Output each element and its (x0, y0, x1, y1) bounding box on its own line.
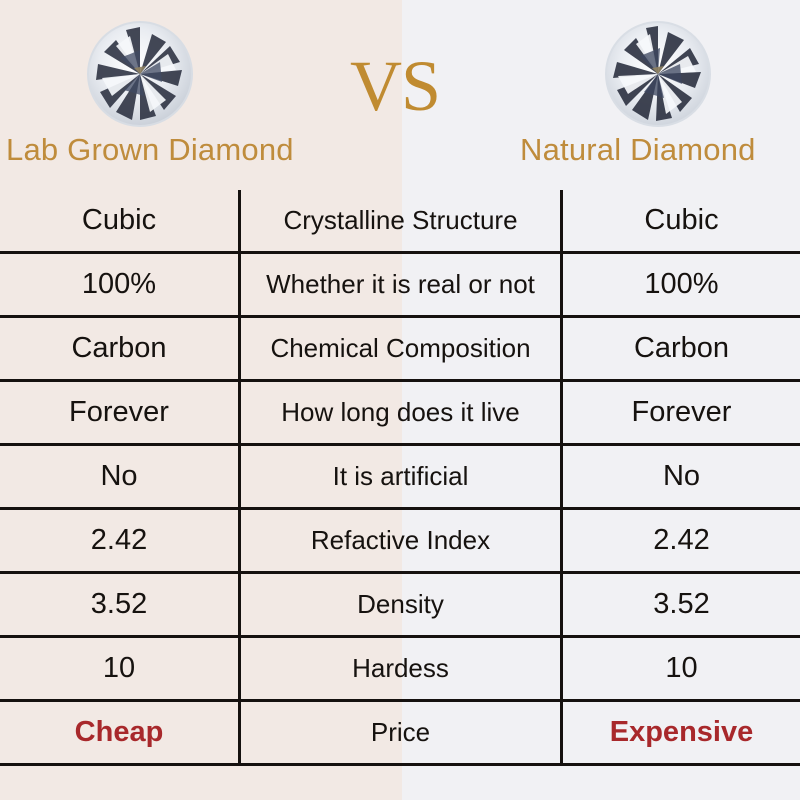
diamond-icon (86, 20, 194, 128)
natural-diamond-title: Natural Diamond (520, 132, 756, 168)
natural-diamond-image (604, 20, 712, 128)
cell-natural: 100% (563, 254, 800, 315)
cell-natural: No (563, 446, 800, 507)
cell-natural: 2.42 (563, 510, 800, 571)
table-row: 3.52 Density 3.52 (0, 574, 800, 638)
vs-label: VS (350, 50, 440, 122)
cell-lab-grown: Carbon (0, 318, 238, 379)
cell-property: Density (238, 574, 563, 635)
cell-property: Crystalline Structure (238, 190, 563, 251)
cell-natural-price: Expensive (563, 702, 800, 763)
cell-lab-grown: Forever (0, 382, 238, 443)
cell-property: It is artificial (238, 446, 563, 507)
table-row: Carbon Chemical Composition Carbon (0, 318, 800, 382)
cell-natural: 3.52 (563, 574, 800, 635)
cell-natural: Carbon (563, 318, 800, 379)
cell-lab-grown: 10 (0, 638, 238, 699)
cell-natural: Cubic (563, 190, 800, 251)
table-row: No It is artificial No (0, 446, 800, 510)
cell-natural: Forever (563, 382, 800, 443)
cell-property: Hardess (238, 638, 563, 699)
cell-property: Whether it is real or not (238, 254, 563, 315)
table-row: 100% Whether it is real or not 100% (0, 254, 800, 318)
cell-property: Refactive Index (238, 510, 563, 571)
cell-lab-grown: 3.52 (0, 574, 238, 635)
table-row-price: Cheap Price Expensive (0, 702, 800, 766)
comparison-table: Cubic Crystalline Structure Cubic 100% W… (0, 190, 800, 766)
table-row: 10 Hardess 10 (0, 638, 800, 702)
infographic-header: Lab Grown Diamond VS (0, 0, 800, 190)
cell-property: Chemical Composition (238, 318, 563, 379)
cell-lab-grown-price: Cheap (0, 702, 238, 763)
table-row: 2.42 Refactive Index 2.42 (0, 510, 800, 574)
diamond-comparison-infographic: Lab Grown Diamond VS (0, 0, 800, 800)
table-row: Forever How long does it live Forever (0, 382, 800, 446)
cell-lab-grown: 100% (0, 254, 238, 315)
cell-property: Price (238, 702, 563, 763)
lab-grown-diamond-title: Lab Grown Diamond (6, 132, 294, 168)
lab-grown-diamond-image (86, 20, 194, 128)
cell-property: How long does it live (238, 382, 563, 443)
table-row: Cubic Crystalline Structure Cubic (0, 190, 800, 254)
diamond-icon (604, 20, 712, 128)
cell-lab-grown: 2.42 (0, 510, 238, 571)
cell-natural: 10 (563, 638, 800, 699)
cell-lab-grown: No (0, 446, 238, 507)
cell-lab-grown: Cubic (0, 190, 238, 251)
